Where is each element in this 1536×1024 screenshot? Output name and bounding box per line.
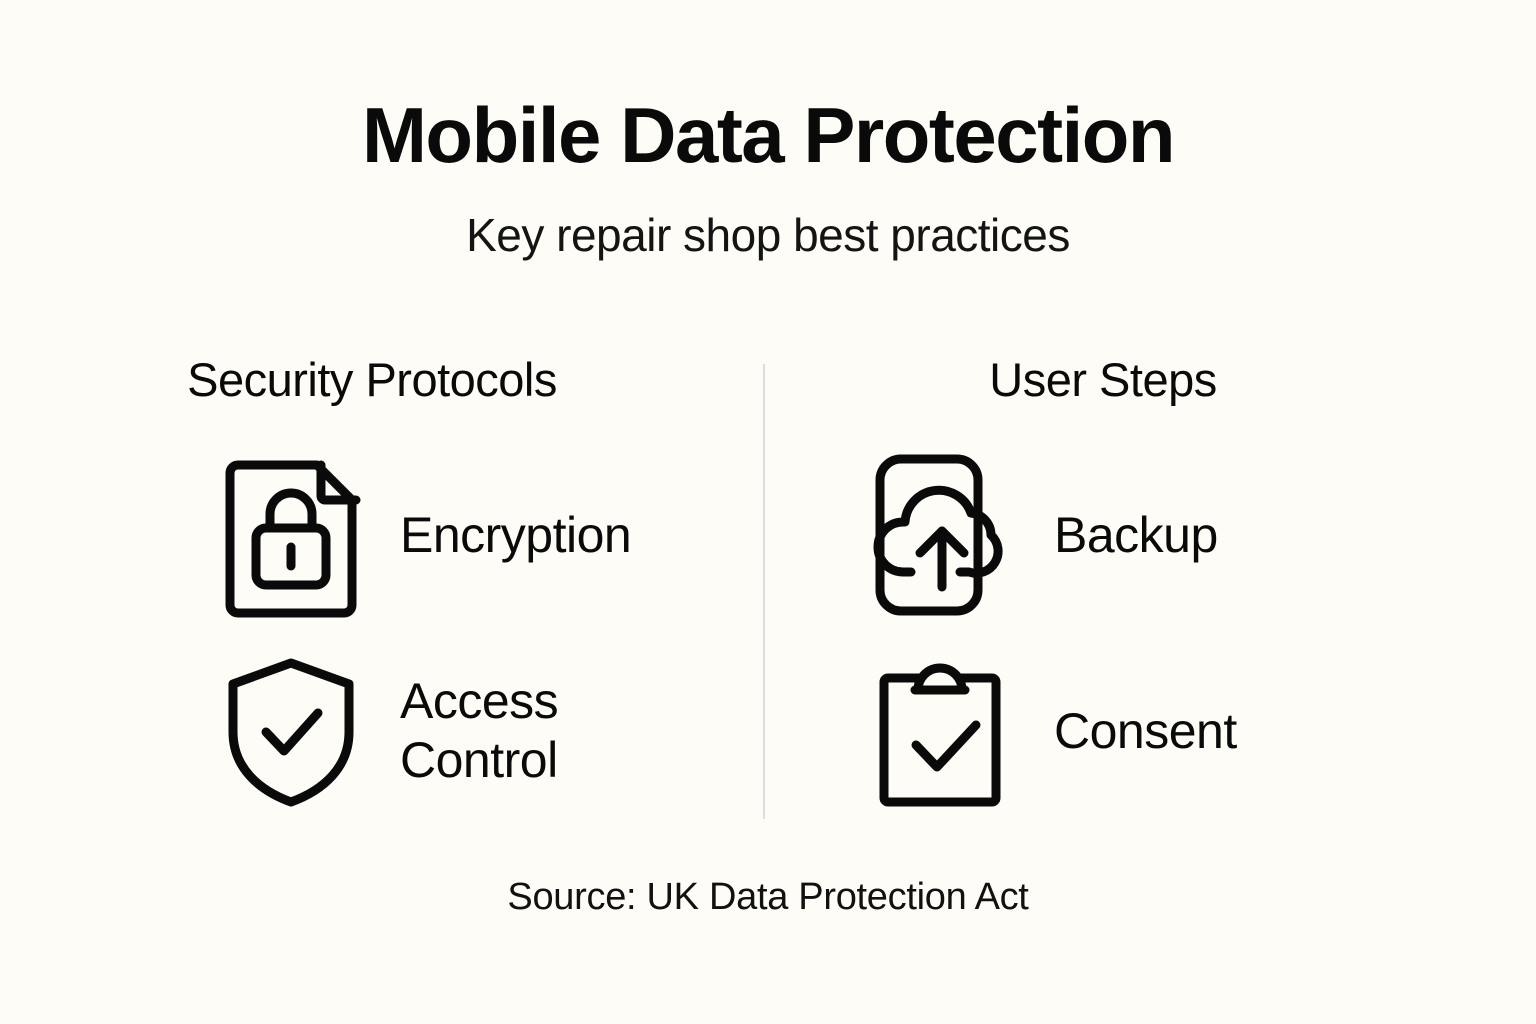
source-attribution: Source: UK Data Protection Act [0,876,1536,919]
clipboard-check-icon [870,651,1020,811]
page-title: Mobile Data Protection [0,96,1536,174]
header: Mobile Data Protection Key repair shop b… [0,96,1536,258]
column-items-security: Encryption Access Control [46,455,746,811]
page-subtitle: Key repair shop best practices [0,174,1536,258]
list-item-encryption: Encryption [46,455,746,615]
phone-cloud-upload-icon [870,455,1020,615]
column-heading-user-steps: User Steps [790,356,1490,403]
column-heading-security-protocols: Security Protocols [46,356,746,403]
list-item-label-backup: Backup [1054,506,1218,565]
footer: Source: UK Data Protection Act [0,876,1536,919]
list-item-label-access-control: Access Control [400,672,630,790]
column-items-user-steps: Backup C [790,455,1490,811]
document-lock-icon [216,455,366,615]
list-item-consent: Consent [790,651,1490,811]
item-spacer [46,615,746,651]
column-user-steps: User Steps Backup [790,356,1490,811]
shield-check-icon [216,651,366,811]
columns-area: Security Protocols [0,356,1536,826]
list-item-label-encryption: Encryption [400,506,631,565]
list-item-label-consent: Consent [1054,702,1237,761]
list-item-access-control: Access Control [46,651,746,811]
list-item-backup: Backup [790,455,1490,615]
column-divider [763,364,765,819]
column-security-protocols: Security Protocols [46,356,746,811]
infographic-canvas: Mobile Data Protection Key repair shop b… [0,0,1536,1024]
